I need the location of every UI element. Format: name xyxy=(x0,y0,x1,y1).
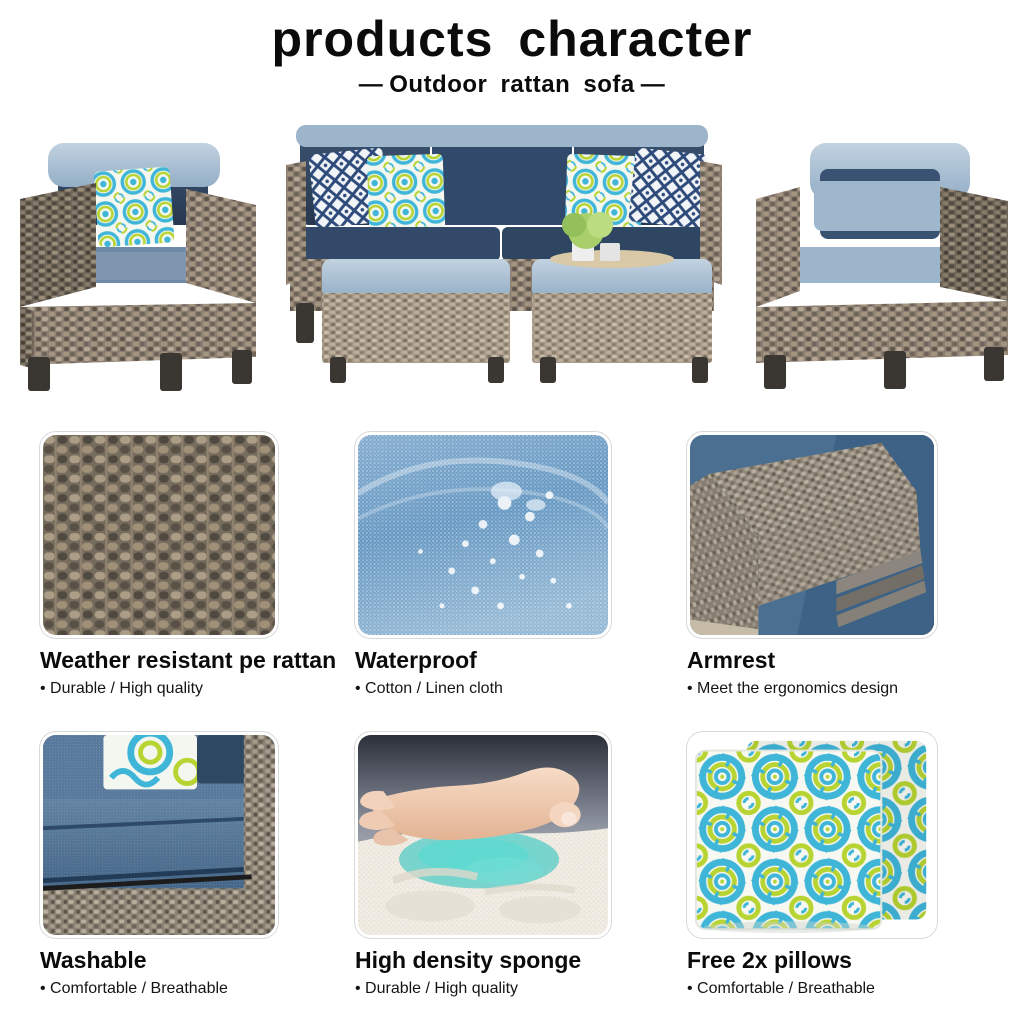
feature-bullet: • Durable / High quality xyxy=(40,680,347,698)
infographic-page: products character —Outdoor rattan sofa— xyxy=(0,0,1024,1024)
feature-cell-free-2x-pillows: Free 2x pillows • Comfortable / Breathab… xyxy=(669,732,1024,1032)
two-medallion-pillows-icon xyxy=(690,735,934,935)
page-subtitle: —Outdoor rattan sofa— xyxy=(0,71,1024,99)
subtitle-dash-right: — xyxy=(635,71,672,99)
feature-bullet: • Meet the ergonomics design xyxy=(687,680,1024,698)
feature-cell-high-density-sponge: High density sponge • Durable / High qua… xyxy=(347,732,669,1032)
subtitle-dash-left: — xyxy=(353,71,390,99)
left-armchair xyxy=(20,143,256,391)
blue-cushion-closeup-thumb xyxy=(40,732,278,938)
feature-cell-waterproof: Waterproof • Cotton / Linen cloth xyxy=(347,432,669,732)
hand-pressing-memory-foam-thumb xyxy=(355,732,611,938)
feature-cell-washable: Washable • Comfortable / Breathable xyxy=(0,732,347,1032)
feature-title: Washable xyxy=(40,948,347,973)
feature-bullet: • Comfortable / Breathable xyxy=(40,980,347,998)
rattan-weave-texture-icon xyxy=(43,435,275,635)
page-title: products character xyxy=(0,14,1024,65)
feature-title: Armrest xyxy=(687,648,1024,673)
blue-cushion-closeup-icon xyxy=(43,735,275,935)
woven-armrest-corner-thumb xyxy=(687,432,937,638)
hand-pressing-memory-foam-icon xyxy=(358,735,608,935)
feature-title: Weather resistant pe rattan xyxy=(40,648,347,673)
feature-title: Free 2x pillows xyxy=(687,948,1024,973)
woven-armrest-corner-icon xyxy=(690,435,934,635)
feature-cell-weather-resistant-pe-rattan: Weather resistant pe rattan • Durable / … xyxy=(0,432,347,732)
feature-bullet: • Durable / High quality xyxy=(355,980,669,998)
feature-cell-armrest: Armrest • Meet the ergonomics design xyxy=(669,432,1024,732)
right-armchair xyxy=(756,143,1008,389)
two-medallion-pillows-thumb xyxy=(687,732,937,938)
hero-product-image xyxy=(0,107,1024,397)
feature-bullet: • Cotton / Linen cloth xyxy=(355,680,669,698)
subtitle-text: Outdoor rattan sofa xyxy=(389,71,635,98)
feature-bullet: • Comfortable / Breathable xyxy=(687,980,1024,998)
feature-grid: Weather resistant pe rattan • Durable / … xyxy=(0,432,1024,1032)
hero-illustration xyxy=(0,107,1024,397)
rattan-weave-texture-thumb xyxy=(40,432,278,638)
feature-title: Waterproof xyxy=(355,648,669,673)
feature-title: High density sponge xyxy=(355,948,669,973)
header: products character —Outdoor rattan sofa— xyxy=(0,0,1024,99)
waterproof-fabric-droplets-thumb xyxy=(355,432,611,638)
waterproof-fabric-droplets-icon xyxy=(358,435,608,635)
ottoman-left xyxy=(322,259,510,383)
